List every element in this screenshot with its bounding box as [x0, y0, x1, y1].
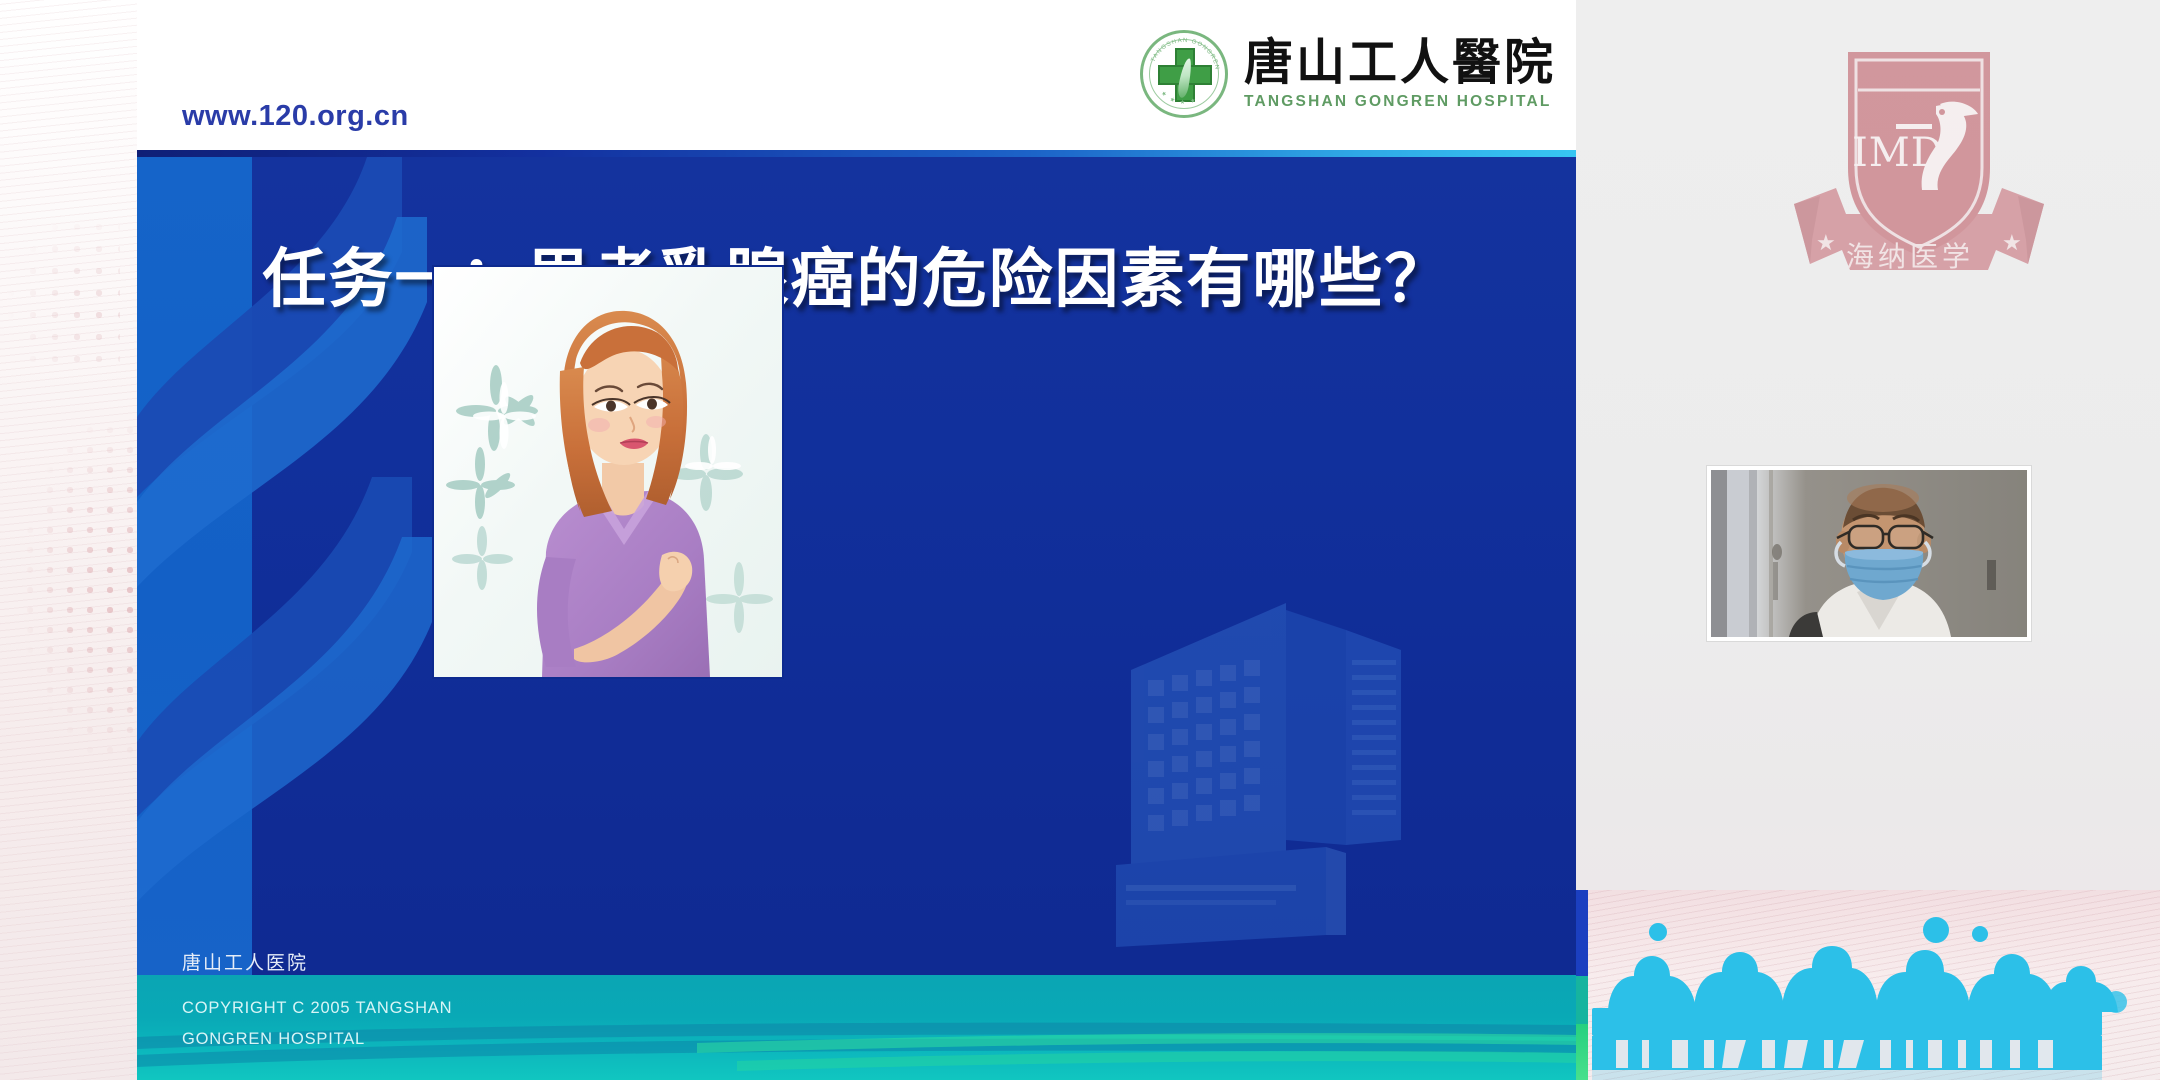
imd-shield-crest-icon: IMD ★ ★ 海纳医学 [1790, 18, 2048, 290]
svg-text:TANGSHAN GONGREN: TANGSHAN GONGREN [1151, 38, 1220, 71]
copyright-line-1: COPYRIGHT C 2005 TANGSHAN [182, 993, 452, 1024]
halftone-dots-decoration-top [0, 150, 120, 370]
header-divider [137, 150, 1576, 157]
hospital-name-en: TANGSHAN GONGREN HOSPITAL [1244, 93, 1556, 111]
hospital-logo: TANGSHAN GONGREN ★ ★ ★ ★ 唐山工人醫院 TANGSHAN… [1138, 28, 1556, 120]
slide-footer-org: 唐山工人医院 [182, 948, 308, 975]
presenter-avatar [1711, 470, 2027, 637]
copyright-block: COPYRIGHT C 2005 TANGSHAN GONGREN HOSPIT… [182, 993, 452, 1056]
slide-body: 任务一：思考乳腺癌的危险因素有哪些？ [137, 157, 1576, 975]
imd-ribbon-text-cn: 海纳医学 [1846, 240, 1974, 273]
video-frame [1711, 470, 2027, 637]
seated-audience-silhouette-icon [1576, 890, 2160, 1080]
slide-title: 任务一：思考乳腺癌的危险因素有哪些？ [137, 245, 1576, 315]
woman-touching-chest-illustration [434, 267, 782, 677]
copyright-line-2: GONGREN HOSPITAL [182, 1024, 452, 1055]
svg-text:★ ★ ★ ★: ★ ★ ★ ★ [1159, 90, 1198, 106]
hospital-building-icon [1096, 575, 1516, 975]
emblem-arc-text: TANGSHAN GONGREN ★ ★ ★ ★ [1138, 28, 1230, 120]
screen: www.120.org.cn TANGSHAN GONGREN [0, 0, 2160, 1080]
hospital-name-block: 唐山工人醫院 TANGSHAN GONGREN HOSPITAL [1244, 38, 1556, 111]
slide-footer-band: COPYRIGHT C 2005 TANGSHAN GONGREN HOSPIT… [137, 975, 1576, 1080]
presenter-video-feed[interactable] [1707, 466, 2031, 641]
illustration-image [434, 267, 782, 677]
green-medical-cross-icon: TANGSHAN GONGREN ★ ★ ★ ★ [1138, 28, 1230, 120]
halftone-dots-decoration [0, 300, 150, 820]
website-url: www.120.org.cn [182, 100, 409, 133]
svg-text:★: ★ [1816, 230, 1836, 255]
audience-silhouette-graphic [1576, 890, 2160, 1080]
hospital-name-cn: 唐山工人醫院 [1244, 38, 1556, 87]
svg-text:★: ★ [2002, 230, 2022, 255]
svg-text:IMD: IMD [1852, 130, 1944, 176]
presentation-slide[interactable]: www.120.org.cn TANGSHAN GONGREN [137, 0, 1576, 1080]
slide-header: www.120.org.cn TANGSHAN GONGREN [137, 0, 1576, 150]
